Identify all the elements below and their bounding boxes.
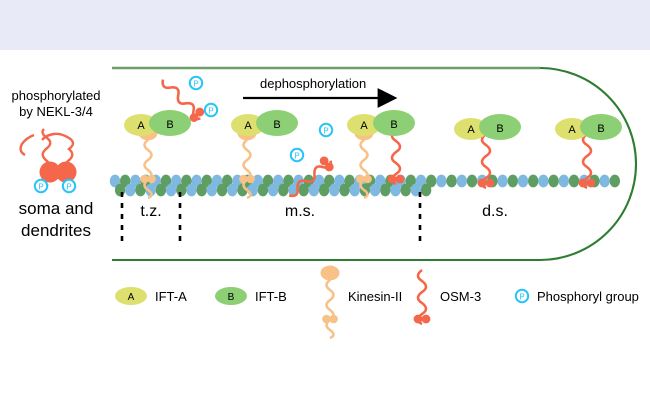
phospho-caption: phosphorylated by NEKL-3/4 — [0, 88, 112, 120]
ciliary-membrane — [112, 68, 636, 260]
segment-label-tz: t.z. — [122, 203, 180, 221]
legend-label-osm-3: OSM-3 — [440, 289, 481, 304]
svg-text:B: B — [228, 292, 235, 303]
svg-text:A: A — [244, 120, 252, 132]
legend-label-kinesin-2: Kinesin-II — [348, 289, 402, 304]
svg-text:A: A — [568, 124, 576, 136]
svg-text:B: B — [166, 119, 173, 131]
svg-text:B: B — [273, 119, 280, 131]
segment-label-ds: d.s. — [420, 203, 570, 221]
soma-dendrites-label: soma and dendrites — [0, 198, 112, 242]
svg-text:A: A — [137, 120, 145, 132]
svg-text:B: B — [496, 123, 503, 135]
legend-label-ift-b: IFT-B — [255, 289, 287, 304]
figure-canvas: P — [0, 0, 650, 400]
inactive-osm3-molecule — [21, 129, 77, 192]
legend-label-phosphoryl: Phosphoryl group — [537, 289, 639, 304]
legend-kinesin-2-icon — [321, 266, 340, 339]
dephosphorylation-label: dephosphorylation — [260, 76, 366, 91]
legend-osm-3-icon — [414, 270, 431, 324]
svg-text:A: A — [360, 120, 368, 132]
legend-phosphoryl-icon — [516, 290, 528, 302]
svg-text:A: A — [128, 292, 135, 303]
svg-text:A: A — [467, 124, 475, 136]
svg-text:B: B — [597, 123, 604, 135]
svg-text:B: B — [390, 119, 397, 131]
segment-label-ms: m.s. — [180, 203, 420, 221]
legend-label-ift-a: IFT-A — [155, 289, 187, 304]
